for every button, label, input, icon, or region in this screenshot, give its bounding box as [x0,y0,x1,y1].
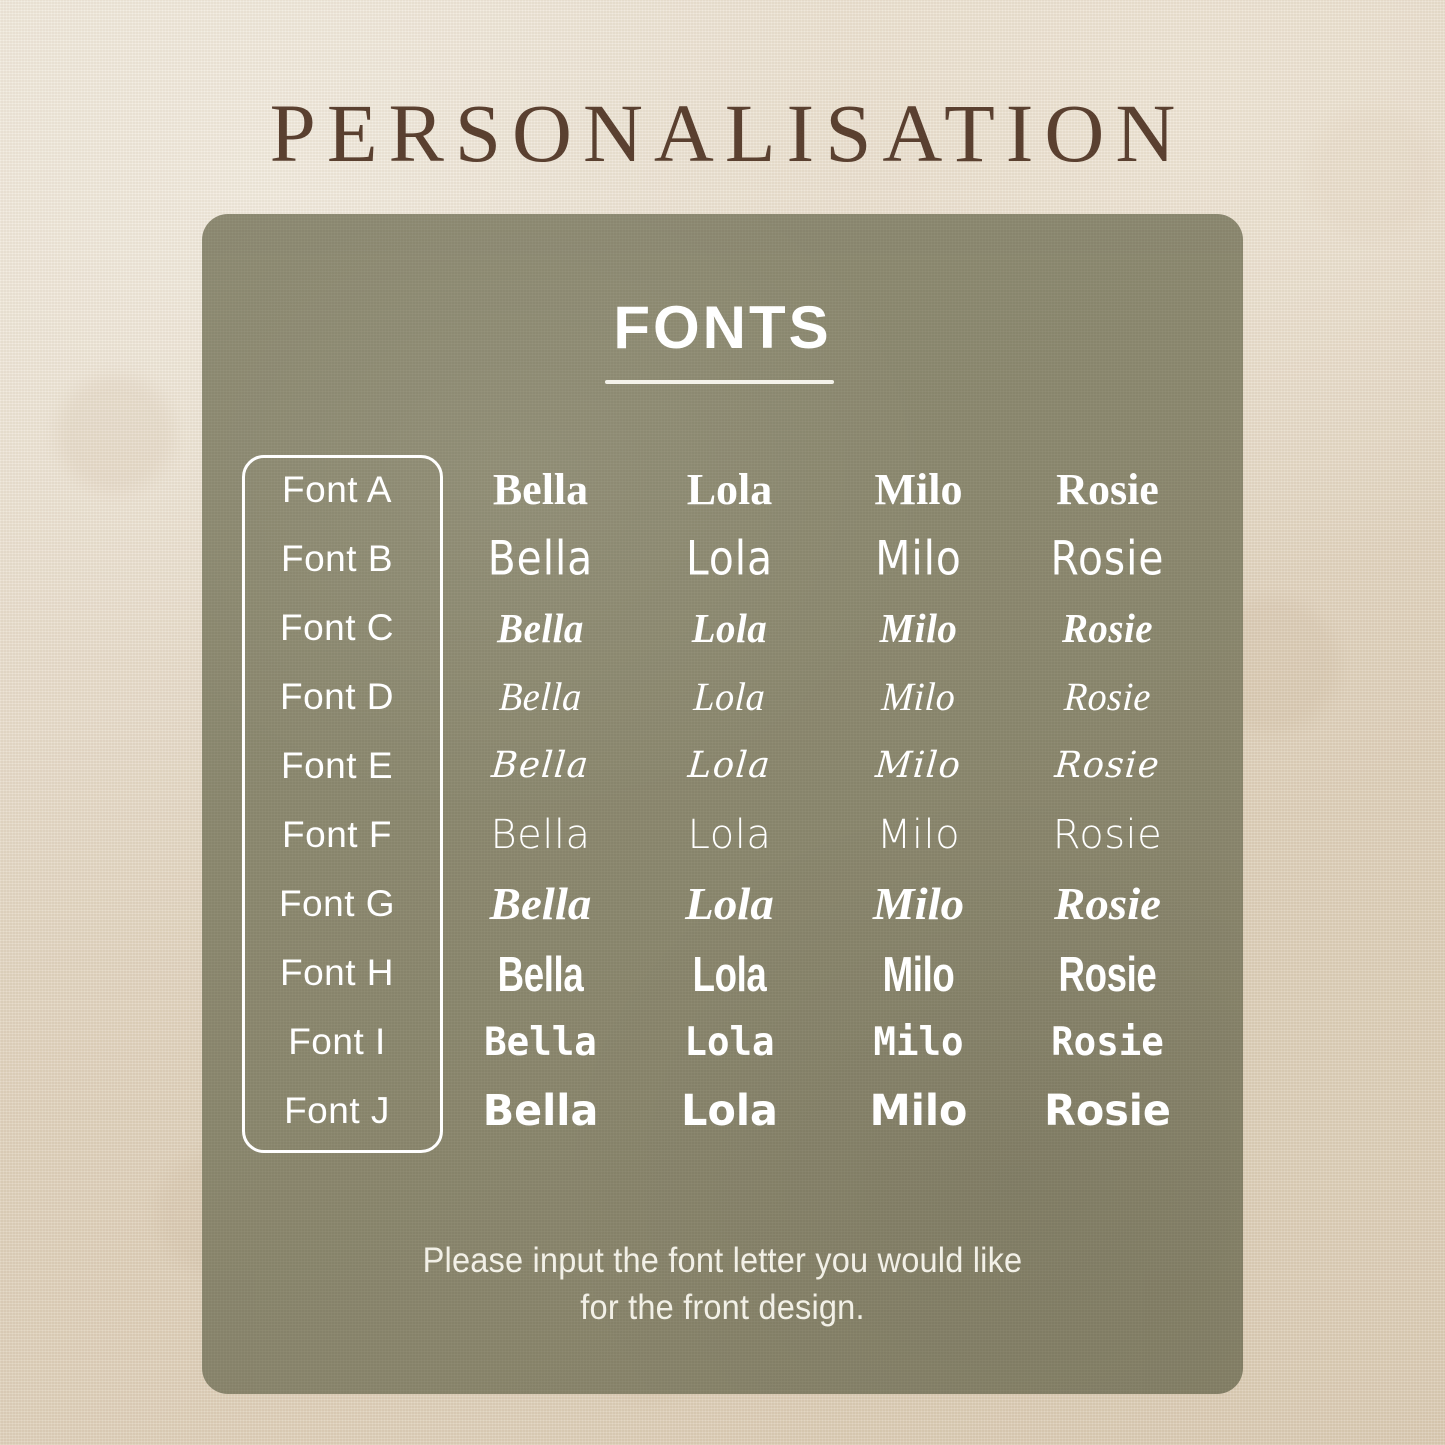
font-row-h[interactable]: Font H Bella Lola Milo Rosie [242,938,1202,1008]
font-row-label-e: Font E [242,745,432,787]
font-sample-c-bella: Bella [451,608,631,649]
footer-instruction-line-2: for the front design. [283,1285,1162,1332]
font-sample-g-rosie: Rosie [1011,881,1204,927]
font-sample-c-lola: Lola [640,608,820,649]
font-sample-b-milo: Milo [827,535,1010,582]
font-sample-b-rosie: Rosie [1016,535,1199,582]
font-samples-g: Bella Lola Milo Rosie [432,881,1202,927]
font-sample-e-milo: Milo [824,748,1012,784]
font-sample-f-lola: Lola [635,815,824,855]
font-sample-h-bella: Bella [467,948,614,997]
font-row-label-b: Font B [242,538,432,580]
font-samples-i: Bella Lola Milo Rosie [432,1023,1202,1062]
font-sample-c-milo: Milo [829,608,1009,649]
page-title: PERSONALISATION [0,92,1445,175]
font-sample-j-bella: Bella [450,1090,631,1133]
font-row-label-g: Font G [242,883,432,925]
font-row-f[interactable]: Font F Bella Lola Milo Rosie [242,800,1202,870]
font-sample-h-lola: Lola [656,948,803,997]
font-sample-d-rosie: Rosie [1017,677,1199,717]
font-sample-h-milo: Milo [845,948,992,997]
font-sample-a-rosie: Rosie [1013,468,1202,512]
footer-instruction: Please input the font letter you would l… [250,1238,1195,1331]
font-row-label-j: Font J [242,1090,432,1132]
font-sample-e-lola: Lola [635,748,823,784]
font-sample-g-lola: Lola [633,881,826,927]
font-row-i[interactable]: Font I Bella Lola Milo Rosie [242,1007,1202,1077]
font-sample-i-bella: Bella [450,1023,631,1062]
font-sample-c-rosie: Rosie [1018,608,1198,649]
font-samples-h: Bella Lola Milo Rosie [432,950,1202,997]
font-row-d[interactable]: Font D Bella Lola Milo Rosie [242,662,1202,732]
font-sample-i-lola: Lola [639,1023,820,1062]
font-row-label-f: Font F [242,814,432,856]
font-sample-a-lola: Lola [635,468,824,512]
font-sample-i-milo: Milo [828,1023,1009,1062]
font-rows-grid: Font A Bella Lola Milo Rosie Font B Bell… [242,455,1202,1153]
font-row-label-a: Font A [242,469,432,511]
font-sample-a-bella: Bella [446,468,635,512]
font-sample-f-bella: Bella [446,815,635,855]
font-sample-d-lola: Lola [639,677,821,717]
font-sample-j-milo: Milo [828,1090,1009,1133]
font-sample-g-milo: Milo [822,881,1015,927]
font-samples-b: Bella Lola Milo Rosie [432,538,1202,580]
font-row-label-i: Font I [242,1021,432,1063]
font-sample-f-rosie: Rosie [1013,815,1202,855]
font-row-j[interactable]: Font J Bella Lola Milo Rosie [242,1076,1202,1146]
font-sample-d-bella: Bella [450,677,632,717]
font-sample-i-rosie: Rosie [1017,1023,1198,1062]
font-sample-f-milo: Milo [824,815,1013,855]
font-sample-d-milo: Milo [828,677,1010,717]
font-sample-a-milo: Milo [824,468,1013,512]
font-samples-j: Bella Lola Milo Rosie [432,1090,1202,1133]
fonts-heading-underline [605,380,834,384]
font-samples-a: Bella Lola Milo Rosie [432,468,1202,512]
font-row-b[interactable]: Font B Bella Lola Milo Rosie [242,524,1202,594]
font-samples-d: Bella Lola Milo Rosie [432,677,1202,717]
font-row-g[interactable]: Font G Bella Lola Milo Rosie [242,869,1202,939]
font-sample-b-bella: Bella [449,535,632,582]
font-samples-f: Bella Lola Milo Rosie [432,815,1202,855]
font-row-label-h: Font H [242,952,432,994]
font-row-a[interactable]: Font A Bella Lola Milo Rosie [242,455,1202,525]
font-samples-c: Bella Lola Milo Rosie [432,608,1202,649]
font-samples-e: Bella Lola Milo Rosie [432,748,1202,784]
font-sample-g-bella: Bella [444,881,637,927]
font-sample-b-lola: Lola [638,535,821,582]
footer-instruction-line-1: Please input the font letter you would l… [283,1238,1162,1285]
font-row-label-d: Font D [242,676,432,718]
font-sample-j-lola: Lola [639,1090,820,1133]
font-sample-e-rosie: Rosie [1013,748,1201,784]
font-row-e[interactable]: Font E Bella Lola Milo Rosie [242,731,1202,801]
font-row-c[interactable]: Font C Bella Lola Milo Rosie [242,593,1202,663]
font-sample-e-bella: Bella [446,748,634,784]
fonts-heading: FONTS [0,298,1445,358]
font-sample-h-rosie: Rosie [1034,948,1181,997]
font-row-label-c: Font C [242,607,432,649]
font-sample-j-rosie: Rosie [1017,1090,1198,1133]
